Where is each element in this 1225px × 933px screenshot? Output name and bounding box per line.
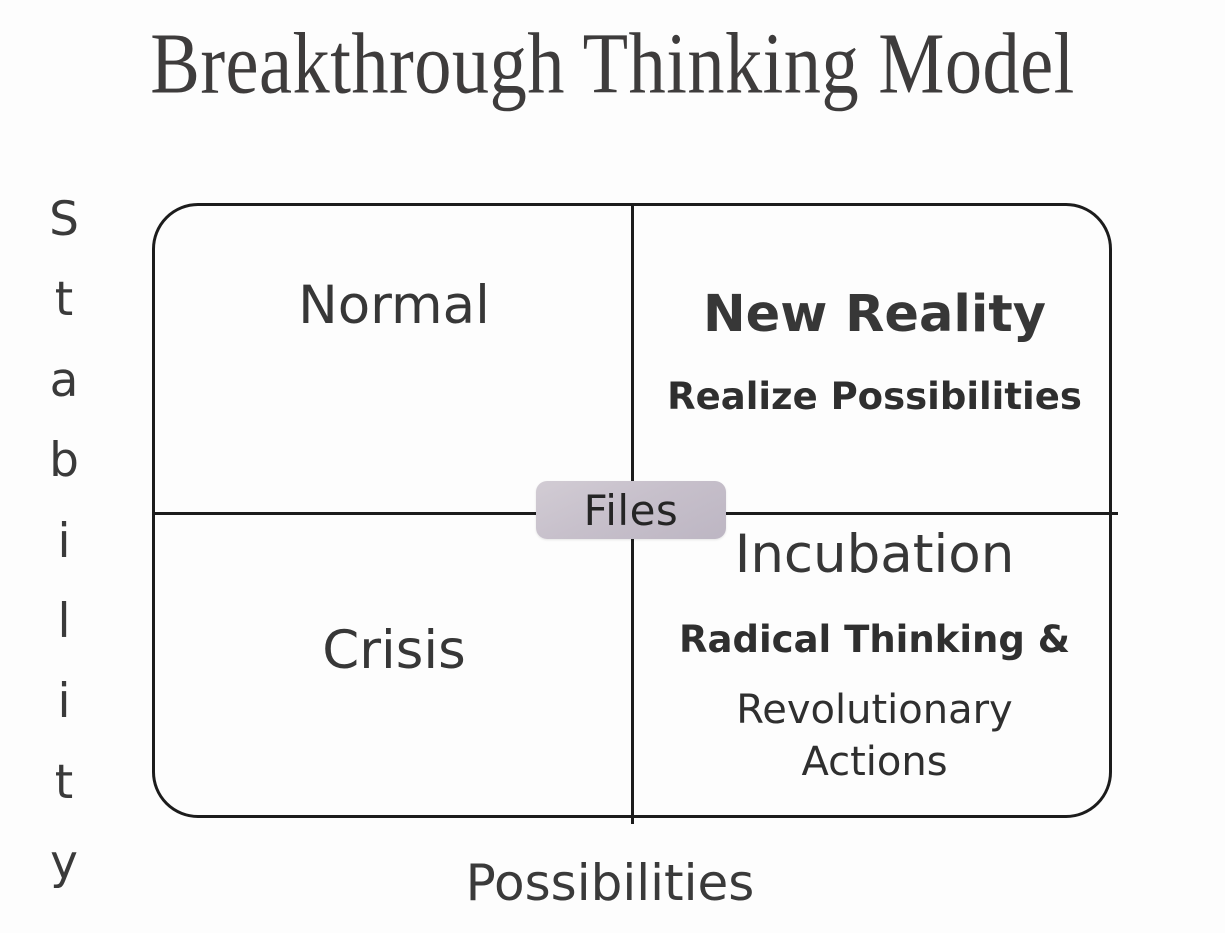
axis-letter: i xyxy=(57,518,70,565)
page-title: Breakthrough Thinking Model xyxy=(43,16,1182,114)
quadrant-normal: Normal xyxy=(155,206,633,514)
axis-letter: y xyxy=(50,839,78,886)
files-badge[interactable]: Files xyxy=(536,481,726,539)
quadrant-normal-title: Normal xyxy=(298,278,490,334)
quadrant-crisis: Crisis xyxy=(155,515,633,821)
axis-letter: b xyxy=(49,437,79,484)
quadrant-new-reality: New Reality Realize Possibilities xyxy=(634,206,1115,514)
x-axis-label-possibilities: Possibilities xyxy=(300,854,920,912)
axis-letter: t xyxy=(55,759,73,806)
quadrant-incubation-subtitle-line-2: Revolutionary xyxy=(736,685,1012,735)
diagram-canvas: Breakthrough Thinking Model S t a b i l … xyxy=(0,0,1225,933)
quadrant-crisis-title: Crisis xyxy=(322,623,465,679)
quadrant-new-reality-title: New Reality xyxy=(703,288,1046,342)
quadrant-incubation: Incubation Radical Thinking & Revolution… xyxy=(634,515,1115,821)
quadrant-incubation-subtitle-line-1: Radical Thinking & xyxy=(679,617,1070,663)
axis-letter: t xyxy=(55,276,73,323)
quadrant-new-reality-subtitle: Realize Possibilities xyxy=(667,374,1082,420)
axis-letter: S xyxy=(49,196,79,243)
axis-letter: a xyxy=(50,357,79,404)
quadrant-incubation-title: Incubation xyxy=(735,527,1015,583)
y-axis-label-stability: S t a b i l i t y xyxy=(36,196,92,886)
axis-letter: i xyxy=(57,678,70,725)
axis-letter: l xyxy=(57,598,70,645)
quadrant-incubation-subtitle-line-3: Actions xyxy=(801,737,947,787)
